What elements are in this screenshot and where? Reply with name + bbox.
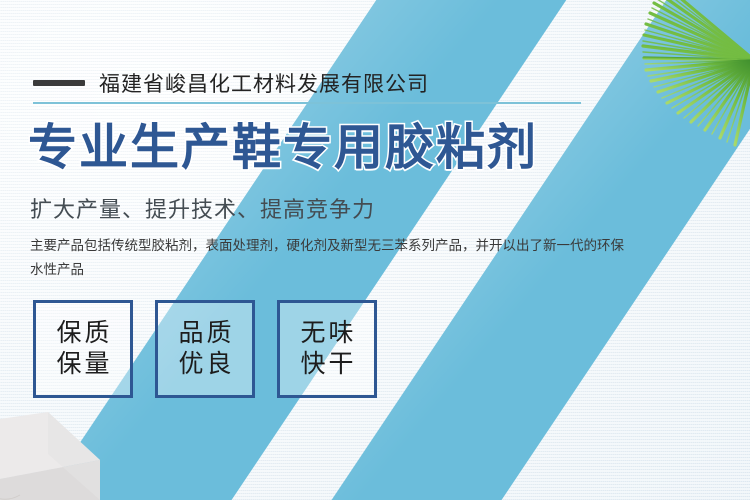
feature-box-3: 无味 快干 xyxy=(277,300,377,398)
feature-line-1: 保质 xyxy=(53,319,112,348)
feature-line-2: 优良 xyxy=(175,350,234,379)
palm-leaf-icon xyxy=(606,0,750,152)
feature-line-2: 保量 xyxy=(53,350,112,379)
product-description: 主要产品包括传统型胶粘剂，表面处理剂，硬化剂及新型无三苯系列产品，并开以出了新一… xyxy=(30,234,630,281)
feature-box-2: 品质 优良 xyxy=(155,300,255,398)
page-subtitle: 扩大产量、提升技术、提高竞争力 xyxy=(30,192,375,224)
brand-header: 福建省峻昌化工材料发展有限公司 xyxy=(33,68,429,98)
promo-banner: 福建省峻昌化工材料发展有限公司 专业生产鞋专用胶粘剂 扩大产量、提升技术、提高竞… xyxy=(0,0,750,500)
header-divider xyxy=(33,102,581,104)
feature-line-1: 品质 xyxy=(175,319,234,348)
feature-list: 保质 保量 品质 优良 无味 快干 xyxy=(33,300,377,398)
feature-line-2: 快干 xyxy=(297,350,356,379)
feature-line-1: 无味 xyxy=(297,319,356,348)
dash-icon xyxy=(33,80,85,86)
page-title: 专业生产鞋专用胶粘剂 xyxy=(28,124,538,173)
feature-box-1: 保质 保量 xyxy=(33,300,133,398)
company-name: 福建省峻昌化工材料发展有限公司 xyxy=(99,68,429,98)
marble-pedestal-icon xyxy=(0,402,172,500)
